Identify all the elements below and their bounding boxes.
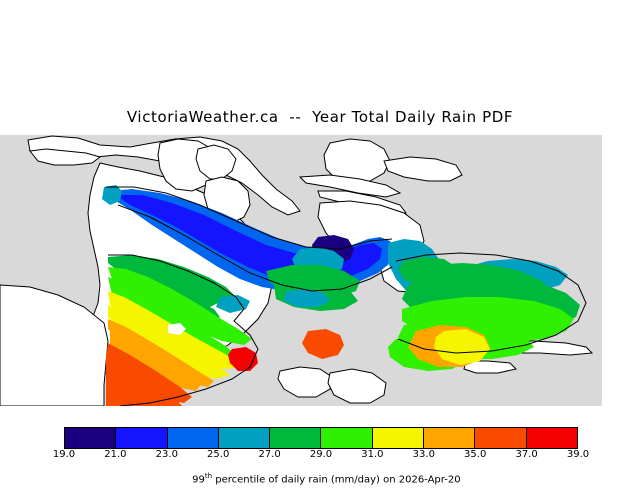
colorbar-tick-19.0: 19.0 bbox=[53, 449, 75, 460]
caption-superscript: th bbox=[205, 472, 212, 480]
page-title: VictoriaWeather.ca -- Year Total Daily R… bbox=[0, 108, 640, 126]
colorbar-segments[interactable] bbox=[64, 427, 578, 449]
colorbar-segment-4[interactable] bbox=[270, 428, 321, 448]
colorbar-tick-39.0: 39.0 bbox=[567, 449, 589, 460]
colorbar-segment-5[interactable] bbox=[321, 428, 372, 448]
colorbar-segment-0[interactable] bbox=[65, 428, 116, 448]
colorbar-segment-9[interactable] bbox=[527, 428, 577, 448]
colorbar-tick-29.0: 29.0 bbox=[310, 449, 332, 460]
colorbar-segment-3[interactable] bbox=[219, 428, 270, 448]
screenshot-root: VictoriaWeather.ca -- Year Total Daily R… bbox=[0, 0, 640, 480]
colorbar-segment-1[interactable] bbox=[116, 428, 167, 448]
colorbar-segment-2[interactable] bbox=[168, 428, 219, 448]
colorbar-tick-23.0: 23.0 bbox=[156, 449, 178, 460]
colorbar-tick-21.0: 21.0 bbox=[104, 449, 126, 460]
colorbar-segment-7[interactable] bbox=[424, 428, 475, 448]
map-canvas[interactable] bbox=[0, 135, 602, 406]
colorbar-tick-35.0: 35.0 bbox=[464, 449, 486, 460]
colorbar-tick-31.0: 31.0 bbox=[361, 449, 383, 460]
colorbar-tick-25.0: 25.0 bbox=[207, 449, 229, 460]
colorbar-tick-27.0: 27.0 bbox=[258, 449, 280, 460]
colorbar-segment-6[interactable] bbox=[373, 428, 424, 448]
colorbar-segment-8[interactable] bbox=[475, 428, 526, 448]
colorbar-tick-33.0: 33.0 bbox=[413, 449, 435, 460]
colorbar-tick-37.0: 37.0 bbox=[515, 449, 537, 460]
colorbar[interactable] bbox=[64, 427, 578, 449]
weather-map[interactable] bbox=[0, 135, 602, 406]
colorbar-caption: 99th percentile of daily rain (mm/day) o… bbox=[0, 461, 640, 496]
